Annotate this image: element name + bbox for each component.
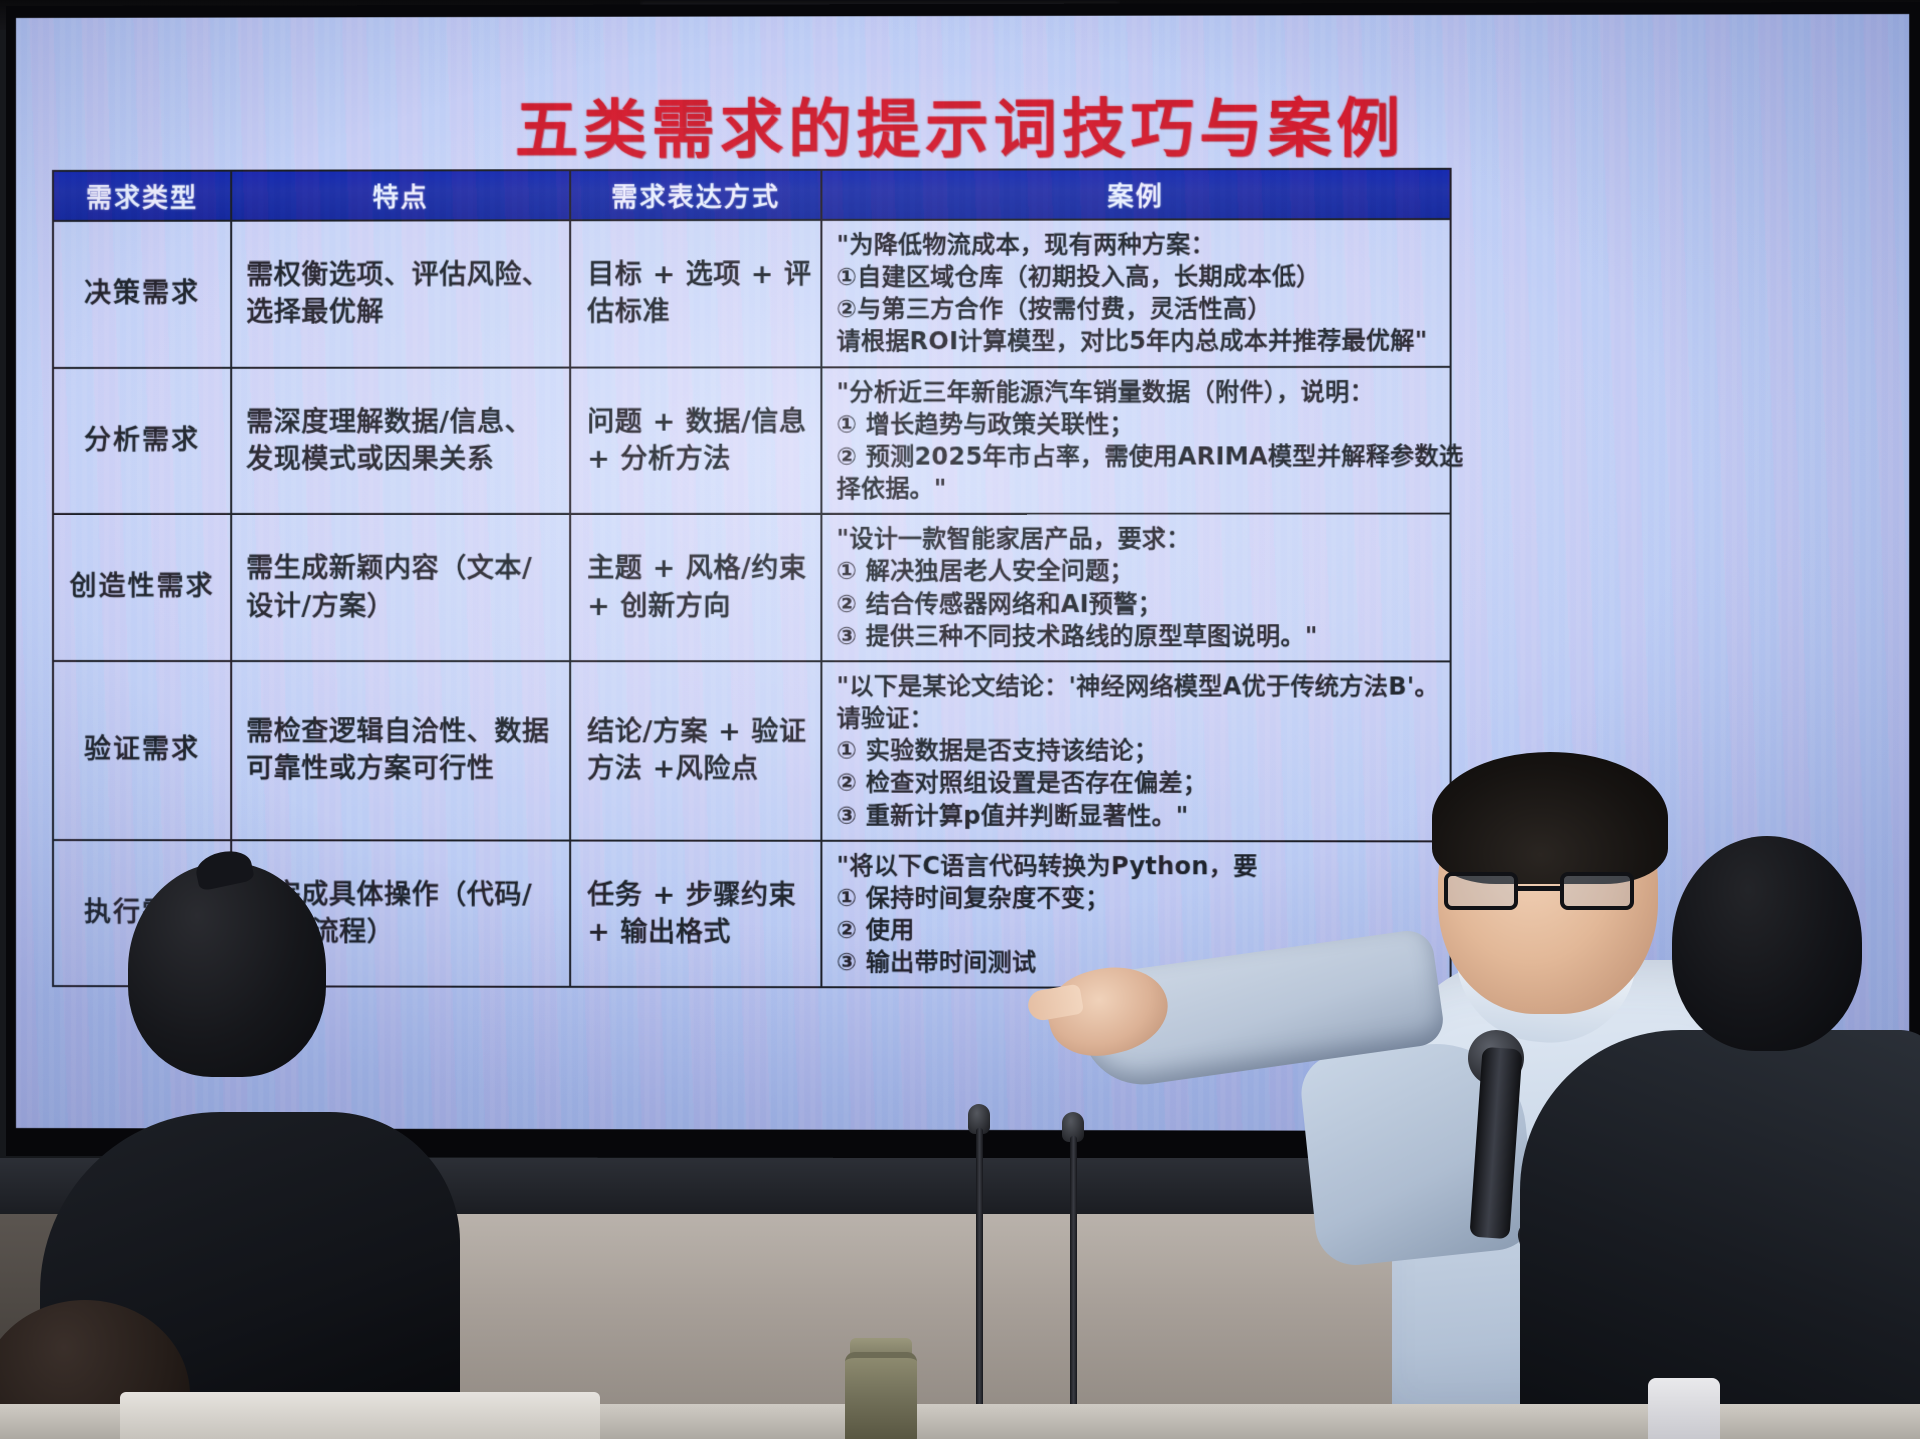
cell-type: 验证需求 (53, 661, 231, 840)
feature-line: 设计/方案） (246, 588, 559, 625)
expression-line: + 输出格式 (587, 914, 810, 952)
example-line: ② 检查对照组设置是否存在偏差； (837, 767, 1440, 800)
example-line: 择依据。" (837, 473, 1440, 505)
cell-feature: 需生成新颖内容（文本/ 设计/方案） (231, 514, 570, 661)
expression-line: 主题 + 风格/约束 (587, 550, 810, 587)
expression-line: + 创新方向 (587, 588, 810, 625)
column-header-type: 需求类型 (53, 171, 231, 221)
feature-line: 需检查逻辑自洽性、数据 (246, 713, 559, 750)
cell-feature: 需深度理解数据/信息、 发现模式或因果关系 (231, 367, 570, 514)
example-line: 请验证： (837, 702, 1440, 735)
example-line: ② 预测2025年市占率，需使用ARIMA模型并解释参数选 (837, 440, 1440, 473)
slide-title: 五类需求的提示词技巧与案例 (16, 76, 1909, 171)
example-line: ①自建区域仓库（初期投入高，长期成本低） (837, 260, 1440, 293)
example-line: ③ 重新计算p值并判断显著性。" (837, 799, 1440, 832)
audience-left-head (128, 862, 326, 1077)
cell-type: 分析需求 (53, 367, 231, 514)
eyeglass-lens-right (1560, 872, 1634, 910)
table-header-row: 需求类型 特点 需求表达方式 案例 (53, 169, 1451, 221)
requirements-table: 需求类型 特点 需求表达方式 案例 决策需求 需权衡选项、评估风险、 选 (52, 168, 1452, 990)
example-line: ① 增长趋势与政策关联性； (837, 408, 1440, 441)
expression-line: 目标 + 选项 + 评 (587, 256, 810, 294)
paper-cup (1648, 1378, 1720, 1439)
conference-table-surface (120, 1392, 600, 1439)
expression-line: 方法 +风险点 (587, 751, 810, 789)
presenter-hair (1432, 752, 1668, 884)
eyeglasses-icon (1442, 872, 1652, 912)
example-line: ② 结合传感器网络和AI预警； (837, 588, 1440, 620)
feature-line: 选择最优解 (246, 294, 559, 332)
feature-line: 可靠性或方案可行性 (246, 750, 559, 788)
example-line: "设计一款智能家居产品，要求： (837, 523, 1440, 555)
example-line: "为降低物流成本，现有两种方案： (837, 228, 1440, 261)
cell-example: "以下是某论文结论：'神经网络模型A优于传统方法B'。 请验证： ① 实验数据是… (821, 661, 1450, 841)
cell-expression: 目标 + 选项 + 评 估标准 (570, 220, 821, 367)
feature-line: 需深度理解数据/信息、 (246, 403, 559, 440)
cell-feature: 需权衡选项、评估风险、 选择最优解 (231, 220, 570, 367)
cell-expression: 主题 + 风格/约束 + 创新方向 (570, 514, 821, 661)
example-line: "分析近三年新能源汽车销量数据（附件），说明： (837, 376, 1440, 409)
audience-right-body (1520, 1030, 1920, 1439)
cell-example: "分析近三年新能源汽车销量数据（附件），说明： ① 增长趋势与政策关联性； ② … (821, 366, 1450, 514)
eyeglass-lens-left (1444, 872, 1518, 910)
cell-example: "为降低物流成本，现有两种方案： ①自建区域仓库（初期投入高，长期成本低） ②与… (821, 219, 1450, 367)
column-header-expression: 需求表达方式 (570, 170, 821, 220)
water-bottle (845, 1352, 917, 1439)
cell-expression: 问题 + 数据/信息 + 分析方法 (570, 367, 821, 514)
column-header-feature: 特点 (231, 170, 570, 221)
cell-expression: 任务 + 步骤约束 + 输出格式 (570, 840, 821, 987)
feature-line: 需权衡选项、评估风险、 (246, 256, 559, 294)
expression-line: 估标准 (587, 293, 810, 331)
feature-line: 发现模式或因果关系 (246, 441, 559, 478)
cell-feature: 需检查逻辑自洽性、数据 可靠性或方案可行性 (231, 661, 570, 840)
table-row: 验证需求 需检查逻辑自洽性、数据 可靠性或方案可行性 结论/方案 + 验证 方法… (53, 661, 1451, 841)
conference-room-photo: 五类需求的提示词技巧与案例 需求类型 特点 需求表达方式 案例 (0, 0, 1920, 1439)
cell-type: 创造性需求 (53, 514, 231, 661)
expression-line: 任务 + 步骤约束 (587, 876, 810, 914)
table-row: 决策需求 需权衡选项、评估风险、 选择最优解 目标 + 选项 + 评 估标准 "… (53, 219, 1451, 368)
expression-line: 问题 + 数据/信息 (587, 403, 810, 440)
example-line: ① 实验数据是否支持该结论； (837, 735, 1440, 768)
expression-line: + 分析方法 (587, 441, 810, 478)
example-line: "以下是某论文结论：'神经网络模型A优于传统方法B'。 (837, 670, 1440, 703)
feature-line: 需生成新颖内容（文本/ (246, 550, 559, 587)
example-line: ① 保持时间复杂度不变； (837, 882, 1440, 915)
table-row: 分析需求 需深度理解数据/信息、 发现模式或因果关系 问题 + 数据/信息 + … (53, 366, 1451, 514)
microphone-stand-right (1070, 1136, 1077, 1428)
example-line: ③ 提供三种不同技术路线的原型草图说明。" (837, 620, 1440, 652)
microphone-stand-left (976, 1128, 983, 1428)
cell-type: 决策需求 (53, 221, 231, 368)
expression-line: 结论/方案 + 验证 (587, 713, 810, 750)
example-line: ②与第三方合作（按需付费，灵活性高） (837, 293, 1440, 326)
eyeglass-bridge (1518, 886, 1564, 891)
audience-right-head (1672, 836, 1862, 1051)
example-line: ① 解决独居老人安全问题； (837, 555, 1440, 587)
cell-example: "设计一款智能家居产品，要求： ① 解决独居老人安全问题； ② 结合传感器网络和… (821, 514, 1450, 661)
example-line: 请根据ROI计算模型，对比5年内总成本并推荐最优解" (837, 325, 1440, 358)
cell-expression: 结论/方案 + 验证 方法 +风险点 (570, 661, 821, 840)
column-header-example: 案例 (821, 169, 1450, 220)
example-line: "将以下C语言代码转换为Python，要 (837, 849, 1440, 882)
table-row: 创造性需求 需生成新颖内容（文本/ 设计/方案） 主题 + 风格/约束 + 创新… (53, 514, 1451, 661)
